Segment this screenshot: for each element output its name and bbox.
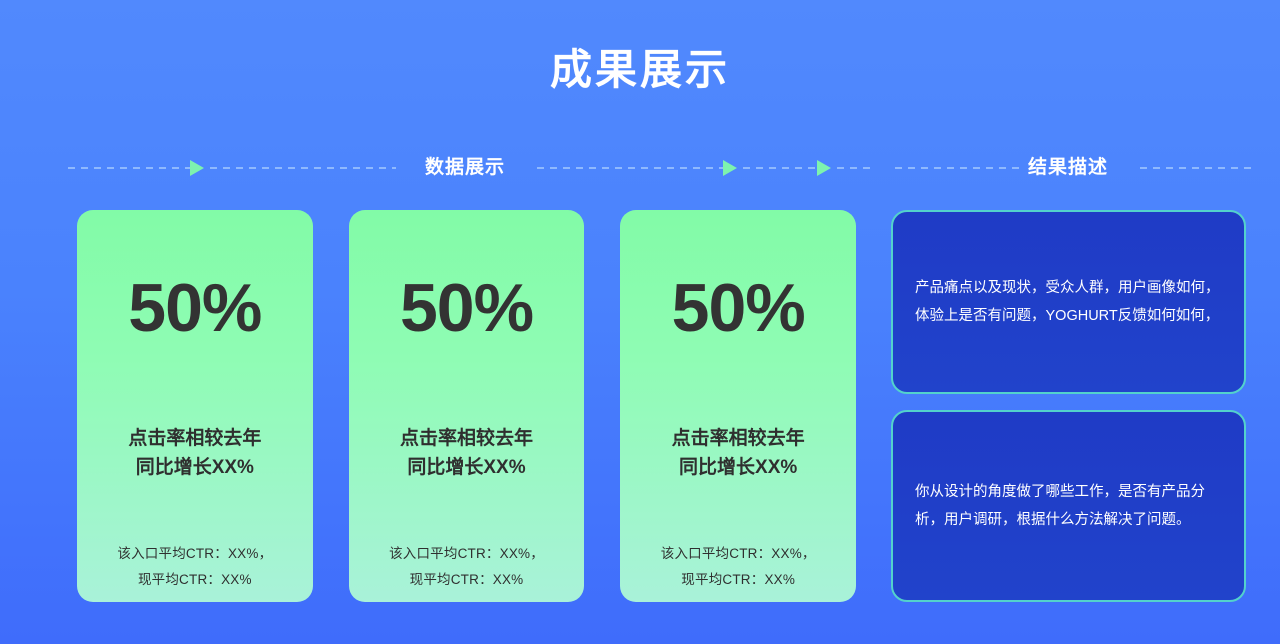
description-panel-group: 产品痛点以及现状，受众人群，用户画像如何，体验上是否有问题，YOGHURT反馈如… bbox=[891, 210, 1246, 602]
stat-subtext-line1: 该入口平均CTR：XX%， bbox=[389, 541, 544, 567]
stat-subtext-line2: 现平均CTR：XX% bbox=[389, 567, 544, 593]
stat-subtext-line2: 现平均CTR：XX% bbox=[661, 567, 816, 593]
arrow-triangle-icon-2 bbox=[723, 160, 737, 176]
dashed-line-segment-7 bbox=[1140, 167, 1252, 169]
stat-card[interactable]: 50% 点击率相较去年 同比增长XX% 该入口平均CTR：XX%， 现平均CTR… bbox=[349, 210, 585, 602]
stat-subtext-line2: 现平均CTR：XX% bbox=[117, 567, 272, 593]
description-card[interactable]: 产品痛点以及现状，受众人群，用户画像如何，体验上是否有问题，YOGHURT反馈如… bbox=[891, 210, 1246, 394]
stat-subtext: 该入口平均CTR：XX%， 现平均CTR：XX% bbox=[661, 541, 816, 592]
stat-headline: 点击率相较去年 同比增长XX% bbox=[672, 424, 805, 483]
arrow-triangle-icon-3 bbox=[817, 160, 831, 176]
stat-headline-line1: 点击率相较去年 bbox=[128, 424, 261, 453]
stat-headline: 点击率相较去年 同比增长XX% bbox=[128, 424, 261, 483]
stat-value: 50% bbox=[128, 274, 261, 342]
stat-card[interactable]: 50% 点击率相较去年 同比增长XX% 该入口平均CTR：XX%， 现平均CTR… bbox=[77, 210, 313, 602]
description-card[interactable]: 你从设计的角度做了哪些工作，是否有产品分析，用户调研，根据什么方法解决了问题。 bbox=[891, 410, 1246, 602]
stat-headline-line2: 同比增长XX% bbox=[672, 453, 805, 482]
stat-headline-line2: 同比增长XX% bbox=[400, 453, 533, 482]
stat-headline-line1: 点击率相较去年 bbox=[400, 424, 533, 453]
description-text: 产品痛点以及现状，受众人群，用户画像如何，体验上是否有问题，YOGHURT反馈如… bbox=[915, 274, 1222, 331]
description-text: 你从设计的角度做了哪些工作，是否有产品分析，用户调研，根据什么方法解决了问题。 bbox=[915, 478, 1222, 535]
dashed-line-segment-2 bbox=[210, 167, 396, 169]
stat-card[interactable]: 50% 点击率相较去年 同比增长XX% 该入口平均CTR：XX%， 现平均CTR… bbox=[620, 210, 856, 602]
stat-headline: 点击率相较去年 同比增长XX% bbox=[400, 424, 533, 483]
section-label-data: 数据展示 bbox=[425, 152, 505, 179]
dashed-line-segment-6 bbox=[895, 167, 1019, 169]
dashed-line-segment-3 bbox=[537, 167, 723, 169]
stat-value: 50% bbox=[400, 274, 533, 342]
stat-headline-line2: 同比增长XX% bbox=[128, 453, 261, 482]
stat-subtext-line1: 该入口平均CTR：XX%， bbox=[661, 541, 816, 567]
stat-subtext: 该入口平均CTR：XX%， 现平均CTR：XX% bbox=[117, 541, 272, 592]
dashed-line-segment-4 bbox=[743, 167, 815, 169]
stat-value: 50% bbox=[672, 274, 805, 342]
stat-headline-line1: 点击率相较去年 bbox=[672, 424, 805, 453]
stat-subtext-line1: 该入口平均CTR：XX%， bbox=[117, 541, 272, 567]
stat-subtext: 该入口平均CTR：XX%， 现平均CTR：XX% bbox=[389, 541, 544, 592]
stat-card-group: 50% 点击率相较去年 同比增长XX% 该入口平均CTR：XX%， 现平均CTR… bbox=[77, 210, 856, 602]
section-header-bar: 数据展示 结果描述 bbox=[0, 155, 1280, 183]
page-title: 成果展示 bbox=[0, 47, 1280, 93]
dashed-line-segment-5 bbox=[837, 167, 875, 169]
dashed-line-segment-1 bbox=[68, 167, 190, 169]
arrow-triangle-icon-1 bbox=[190, 160, 204, 176]
section-label-result: 结果描述 bbox=[1028, 152, 1108, 179]
